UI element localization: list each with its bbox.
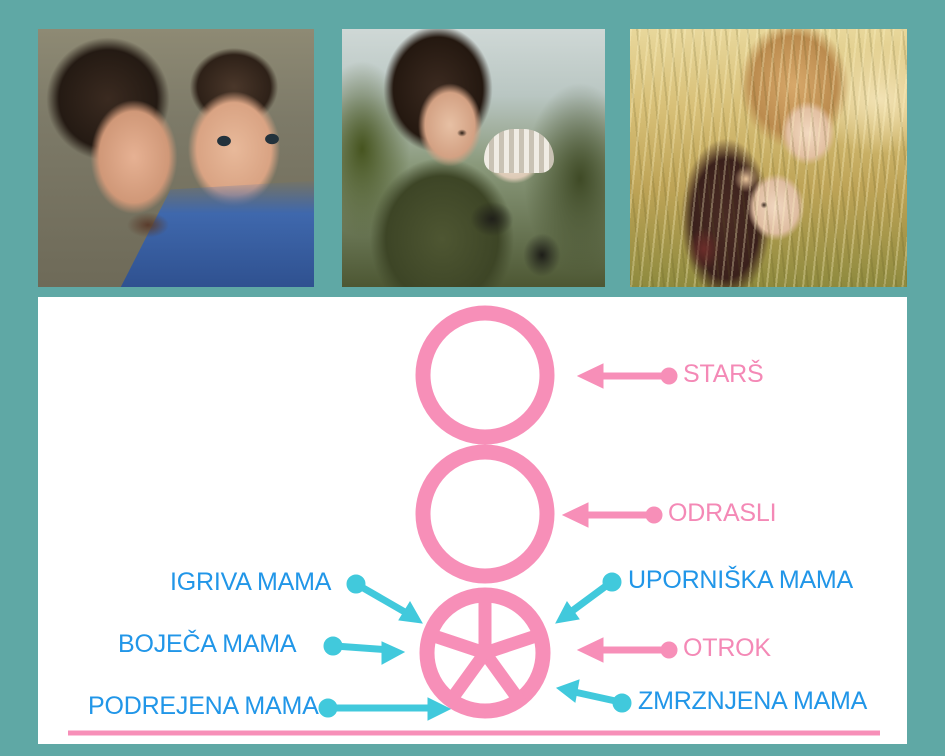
label-stars: STARŠ (683, 360, 764, 389)
arrow-to-podrejena (319, 698, 450, 720)
arrow-to-child (578, 638, 677, 662)
label-podrejena-mama: PODREJENA MAMA (88, 692, 319, 721)
photo-mother-and-baby-in-grass (630, 29, 907, 287)
arrow-to-bojeca (324, 637, 404, 664)
parent-circle (423, 313, 547, 437)
arrow-to-upornis (556, 573, 621, 623)
pink-arrows (563, 364, 677, 662)
arrow-to-igriva (347, 575, 422, 623)
photo-3-image (630, 29, 907, 287)
spoke-lower-right (485, 653, 519, 700)
spoke-upper-left (431, 635, 485, 653)
poster-root: STARŠ ODRASLI OTROK IGRIVA MAMA BOJEČA M… (0, 0, 945, 756)
photo-1-image (38, 29, 314, 287)
arrow-to-adult (563, 503, 662, 527)
adult-circle (423, 452, 547, 576)
photo-mother-holding-baby-greenhouse (342, 29, 605, 287)
ego-states-diagram (38, 297, 907, 744)
label-zmrznjena-mama: ZMRZNJENA MAMA (638, 687, 867, 716)
label-upornis-mama: UPORNIŠKA MAMA (628, 566, 853, 595)
spoke-lower-left (451, 653, 485, 700)
arrow-to-zmrznjena (557, 680, 631, 712)
label-bojeca-mama: BOJEČA MAMA (118, 630, 296, 659)
label-igriva-mama: IGRIVA MAMA (170, 568, 331, 597)
diagram-panel: STARŠ ODRASLI OTROK IGRIVA MAMA BOJEČA M… (38, 297, 907, 744)
label-odrasli: ODRASLI (668, 499, 776, 528)
photo-2-image (342, 29, 605, 287)
arrow-to-parent (578, 364, 677, 388)
spoke-upper-right (485, 635, 539, 653)
label-otrok: OTROK (683, 634, 771, 663)
photo-mother-kissing-toddler (38, 29, 314, 287)
